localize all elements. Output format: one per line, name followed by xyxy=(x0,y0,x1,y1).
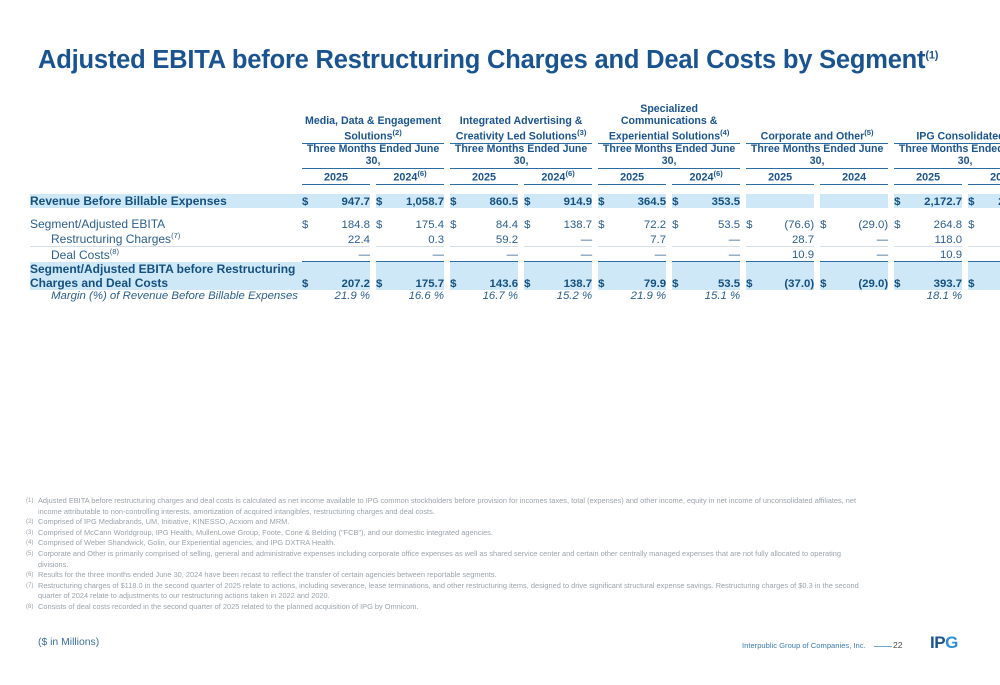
footnote-item: (2) Comprised of IPG Mediabrands, UM, In… xyxy=(26,517,866,528)
currency-symbol xyxy=(524,246,540,262)
currency-symbol: $ xyxy=(894,217,910,231)
table-row-restructuring-charges: Restructuring Charges(7) 22.4 0.3 59.2 —… xyxy=(30,231,1000,247)
cell-value: — xyxy=(836,246,888,262)
table-row-deal-costs: Deal Costs(8) — — — — — — 10.9 — xyxy=(30,246,1000,262)
cell-value: — xyxy=(984,246,1000,262)
currency-symbol xyxy=(968,290,984,302)
segment-name: Media, Data & Engagement Solutions xyxy=(305,115,441,143)
cell-value: 21.9 % xyxy=(318,290,370,302)
footnote-text: Restructuring charges of $118.0 in the s… xyxy=(38,581,866,602)
year-label: 2025 xyxy=(324,172,348,184)
cell-value: 72.2 xyxy=(614,217,666,231)
spacer-cell xyxy=(30,208,1000,217)
cell-value: 364.5 xyxy=(614,194,666,208)
row-label: Segment/Adjusted EBITA before Restructur… xyxy=(30,262,302,290)
currency-symbol xyxy=(450,290,466,302)
cell-value: 53.5 xyxy=(688,262,740,290)
currency-symbol: $ xyxy=(894,262,910,290)
footnote-marker: (4) xyxy=(26,538,38,549)
header-corner-blank xyxy=(30,104,302,144)
currency-symbol: $ xyxy=(524,217,540,231)
cell-value: 79.9 xyxy=(614,262,666,290)
footnote-marker: (8) xyxy=(26,602,38,613)
segment-superscript: (2) xyxy=(393,128,402,137)
segment-header-row: Media, Data & Engagement Solutions(2) In… xyxy=(30,104,1000,144)
year-label: 2025 xyxy=(472,172,496,184)
year-label: 2025 xyxy=(620,172,644,184)
year-label: 2024 xyxy=(393,172,417,184)
period-corner-blank xyxy=(30,144,302,169)
year-header-seg3-2025: 2025 xyxy=(598,168,666,184)
currency-symbol xyxy=(672,246,688,262)
cell-value: 338.9 xyxy=(984,262,1000,290)
footnote-item: (4) Comprised of Weber Shandwick, Golin,… xyxy=(26,538,866,549)
year-corner-blank xyxy=(30,168,302,184)
period-header-segment-2: Three Months Ended June 30, xyxy=(450,144,592,169)
currency-symbol: $ xyxy=(746,262,762,290)
cell-value: — xyxy=(466,246,518,262)
spacer-row-2 xyxy=(30,208,1000,217)
cell-value: 10.9 xyxy=(762,246,814,262)
cell-value: 353.5 xyxy=(688,194,740,208)
period-header-segment-4: Three Months Ended June 30, xyxy=(746,144,888,169)
currency-symbol: $ xyxy=(598,217,614,231)
year-header-seg2-2025: 2025 xyxy=(450,168,518,184)
currency-symbol xyxy=(672,290,688,302)
cell-value: 21.9 % xyxy=(614,290,666,302)
currency-symbol: $ xyxy=(672,262,688,290)
currency-symbol xyxy=(524,231,540,247)
period-header-segment-1: Three Months Ended June 30, xyxy=(302,144,444,169)
year-label: 2024 xyxy=(541,172,565,184)
year-header-seg5-2025: 2025 xyxy=(894,168,962,184)
currency-symbol: $ xyxy=(450,194,466,208)
segment-header-corporate-and-other: Corporate and Other(5) xyxy=(746,104,888,144)
currency-symbol xyxy=(376,231,392,247)
cell-value: (29.0) xyxy=(836,262,888,290)
year-header-row: 2025 2024(6) 2025 2024(6) 2025 2024(6) xyxy=(30,168,1000,184)
year-header-seg1-2024: 2024(6) xyxy=(376,168,444,184)
currency-symbol xyxy=(746,194,762,208)
table-row-segment-adjusted-ebita: Segment/Adjusted EBITA $ 184.8 $ 175.4 $… xyxy=(30,217,1000,231)
year-header-seg3-2024: 2024(6) xyxy=(672,168,740,184)
year-label: 2024 xyxy=(842,172,866,184)
table-row-margin-percent-of-revenue-before-billable-expenses: Margin (%) of Revenue Before Billable Ex… xyxy=(30,290,1000,302)
footnote-marker: (3) xyxy=(26,528,38,539)
year-label: 2025 xyxy=(916,172,940,184)
cell-value: 175.4 xyxy=(392,217,444,231)
year-label: 2024 xyxy=(990,172,1000,184)
currency-symbol xyxy=(598,231,614,247)
cell-value xyxy=(836,290,888,302)
segment-superscript: (5) xyxy=(864,128,873,137)
currency-symbol: $ xyxy=(746,217,762,231)
currency-symbol xyxy=(376,246,392,262)
currency-symbol xyxy=(302,290,318,302)
page-number: 22 xyxy=(893,640,903,650)
segment-name: Specialized Communications & Experientia… xyxy=(609,103,720,143)
currency-symbol xyxy=(894,231,910,247)
year-header-seg2-2024: 2024(6) xyxy=(524,168,592,184)
currency-symbol xyxy=(820,246,836,262)
footnote-marker: (6) xyxy=(26,570,38,581)
cell-value: 947.7 xyxy=(318,194,370,208)
cell-value: 2,172.7 xyxy=(910,194,962,208)
currency-symbol: $ xyxy=(376,194,392,208)
year-header-seg4-2025: 2025 xyxy=(746,168,814,184)
footnote-marker: (1) xyxy=(26,496,38,517)
footnote-marker: (5) xyxy=(26,549,38,570)
year-header-seg1-2025: 2025 xyxy=(302,168,370,184)
footnote-marker: (2) xyxy=(26,517,38,528)
cell-value: 59.2 xyxy=(466,231,518,247)
currency-symbol: $ xyxy=(450,262,466,290)
segment-header-integrated-advertising-creativity-led-solutions: Integrated Advertising & Creativity Led … xyxy=(450,104,592,144)
currency-symbol: $ xyxy=(524,194,540,208)
footer-company-name: Interpublic Group of Companies, Inc. xyxy=(742,641,900,650)
currency-symbol: $ xyxy=(598,262,614,290)
footnote-marker: (7) xyxy=(26,581,38,602)
currency-symbol: $ xyxy=(302,194,318,208)
financial-table-container: Media, Data & Engagement Solutions(2) In… xyxy=(30,104,990,302)
cell-value: — xyxy=(688,246,740,262)
cell-value: 118.0 xyxy=(910,231,962,247)
currency-symbol xyxy=(820,231,836,247)
cell-value xyxy=(836,194,888,208)
currency-symbol: $ xyxy=(302,217,318,231)
page-title: Adjusted EBITA before Restructuring Char… xyxy=(38,46,938,75)
segment-name: Corporate and Other xyxy=(761,131,865,143)
cell-value: 14.6 % xyxy=(984,290,1000,302)
footnote-item: (6) Results for the three months ended J… xyxy=(26,570,866,581)
cell-value: 338.6 xyxy=(984,217,1000,231)
currency-symbol xyxy=(302,231,318,247)
row-label-text: Deal Costs xyxy=(51,248,110,262)
currency-symbol xyxy=(746,246,762,262)
currency-symbol xyxy=(820,194,836,208)
currency-symbol: $ xyxy=(524,262,540,290)
currency-symbol: $ xyxy=(672,194,688,208)
footnote-item: (5) Corporate and Other is primarily com… xyxy=(26,549,866,570)
ipg-logo: IPG xyxy=(930,633,958,653)
cell-value: 10.9 xyxy=(910,246,962,262)
cell-value: 22.4 xyxy=(318,231,370,247)
currency-symbol: $ xyxy=(598,194,614,208)
currency-symbol: $ xyxy=(672,217,688,231)
cell-value: 0.3 xyxy=(984,231,1000,247)
cell-value: 138.7 xyxy=(540,217,592,231)
logo-g-text: G xyxy=(945,633,958,652)
cell-value xyxy=(762,194,814,208)
cell-value: 143.6 xyxy=(466,262,518,290)
cell-value: 15.1 % xyxy=(688,290,740,302)
footer-company-text: Interpublic Group of Companies, Inc. xyxy=(742,641,866,650)
row-label: Revenue Before Billable Expenses xyxy=(30,194,302,208)
currency-symbol xyxy=(894,290,910,302)
segment-superscript: (3) xyxy=(577,128,586,137)
currency-symbol: $ xyxy=(968,217,984,231)
cell-value: — xyxy=(392,246,444,262)
cell-value: (37.0) xyxy=(762,262,814,290)
logo-ip-text: IP xyxy=(930,633,945,652)
cell-value: (76.6) xyxy=(762,217,814,231)
spacer-row-1 xyxy=(30,184,1000,194)
cell-value: — xyxy=(540,231,592,247)
footnote-item: (1) Adjusted EBITA before restructuring … xyxy=(26,496,866,517)
currency-symbol: $ xyxy=(894,194,910,208)
cell-value: — xyxy=(540,246,592,262)
cell-value: 393.7 xyxy=(910,262,962,290)
footnote-item: (8) Consists of deal costs recorded in t… xyxy=(26,602,866,613)
currency-symbol xyxy=(598,246,614,262)
footnote-item: (3) Comprised of McCann Worldgroup, IPG … xyxy=(26,528,866,539)
period-header-segment-5: Three Months Ended June 30, xyxy=(894,144,1000,169)
currency-symbol: $ xyxy=(376,217,392,231)
segment-header-specialized-communications-experiential-solutions: Specialized Communications & Experientia… xyxy=(598,104,740,144)
cell-value: 16.6 % xyxy=(392,290,444,302)
financial-table: Media, Data & Engagement Solutions(2) In… xyxy=(30,104,1000,302)
cell-value: 138.7 xyxy=(540,262,592,290)
segment-name: Integrated Advertising & Creativity Led … xyxy=(456,115,583,143)
currency-symbol: $ xyxy=(820,262,836,290)
cell-value: 0.3 xyxy=(392,231,444,247)
footnote-text: Comprised of McCann Worldgroup, IPG Heal… xyxy=(38,528,866,539)
footnote-item: (7) Restructuring charges of $118.0 in t… xyxy=(26,581,866,602)
segment-header-media-data-engagement-solutions: Media, Data & Engagement Solutions(2) xyxy=(302,104,444,144)
table-row-segment-adjusted-ebita-before-restructuring-charges-and-deal-costs: Segment/Adjusted EBITA before Restructur… xyxy=(30,262,1000,290)
currency-symbol: $ xyxy=(968,194,984,208)
year-header-seg4-2024: 2024 xyxy=(820,168,888,184)
cell-value: 175.7 xyxy=(392,262,444,290)
year-label: 2025 xyxy=(768,172,792,184)
year-label: 2024 xyxy=(689,172,713,184)
cell-value: 84.4 xyxy=(466,217,518,231)
currency-symbol xyxy=(672,231,688,247)
cell-value: 264.8 xyxy=(910,217,962,231)
footnote-text: Comprised of IPG Mediabrands, UM, Initia… xyxy=(38,517,866,528)
row-label: Restructuring Charges(7) xyxy=(30,231,302,247)
currency-symbol xyxy=(894,246,910,262)
currency-symbol xyxy=(746,290,762,302)
year-superscript: (6) xyxy=(713,169,722,178)
cell-value: 207.2 xyxy=(318,262,370,290)
period-header-row: Three Months Ended June 30, Three Months… xyxy=(30,144,1000,169)
footnote-text: Adjusted EBITA before restructuring char… xyxy=(38,496,866,517)
currency-symbol: $ xyxy=(820,217,836,231)
footnote-text: Results for the three months ended June … xyxy=(38,570,866,581)
cell-value: — xyxy=(318,246,370,262)
currency-symbol: $ xyxy=(968,262,984,290)
units-label: ($ in Millions) xyxy=(38,637,99,648)
row-label-superscript: (8) xyxy=(110,247,119,256)
currency-symbol xyxy=(302,246,318,262)
currency-symbol xyxy=(746,231,762,247)
cell-value: 914.9 xyxy=(540,194,592,208)
cell-value: 16.7 % xyxy=(466,290,518,302)
currency-symbol xyxy=(968,231,984,247)
segment-header-ipg-consolidated: IPG Consolidated(1) xyxy=(894,104,1000,144)
row-label: Deal Costs(8) xyxy=(30,246,302,262)
cell-value: — xyxy=(688,231,740,247)
segment-superscript: (4) xyxy=(720,128,729,137)
row-label-superscript: (7) xyxy=(171,231,180,240)
cell-value: 1,058.7 xyxy=(392,194,444,208)
currency-symbol: $ xyxy=(376,262,392,290)
footnote-text: Comprised of Weber Shandwick, Golin, our… xyxy=(38,538,866,549)
year-header-seg5-2024: 2024 xyxy=(968,168,1000,184)
currency-symbol xyxy=(598,290,614,302)
cell-value: 184.8 xyxy=(318,217,370,231)
currency-symbol: $ xyxy=(450,217,466,231)
spacer-cell xyxy=(30,184,1000,194)
footnote-text: Consists of deal costs recorded in the s… xyxy=(38,602,866,613)
currency-symbol xyxy=(450,246,466,262)
cell-value: 15.2 % xyxy=(540,290,592,302)
table-row-revenue-before-billable-expenses: Revenue Before Billable Expenses $ 947.7… xyxy=(30,194,1000,208)
cell-value xyxy=(762,290,814,302)
cell-value: 28.7 xyxy=(762,231,814,247)
row-label-text: Restructuring Charges xyxy=(51,232,171,246)
footnotes-list: (1) Adjusted EBITA before restructuring … xyxy=(26,496,866,613)
currency-symbol xyxy=(820,290,836,302)
currency-symbol xyxy=(524,290,540,302)
period-header-segment-3: Three Months Ended June 30, xyxy=(598,144,740,169)
year-superscript: (6) xyxy=(417,169,426,178)
cell-value: — xyxy=(836,231,888,247)
row-label: Margin (%) of Revenue Before Billable Ex… xyxy=(30,290,302,302)
cell-value: 2,327.1 xyxy=(984,194,1000,208)
page-title-text: Adjusted EBITA before Restructuring Char… xyxy=(38,46,925,74)
cell-value: — xyxy=(614,246,666,262)
cell-value: 53.5 xyxy=(688,217,740,231)
cell-value: 18.1 % xyxy=(910,290,962,302)
cell-value: 860.5 xyxy=(466,194,518,208)
cell-value: (29.0) xyxy=(836,217,888,231)
cell-value: 7.7 xyxy=(614,231,666,247)
currency-symbol: $ xyxy=(302,262,318,290)
year-superscript: (6) xyxy=(565,169,574,178)
currency-symbol xyxy=(968,246,984,262)
footnote-text: Corporate and Other is primarily compris… xyxy=(38,549,866,570)
currency-symbol xyxy=(376,290,392,302)
currency-symbol xyxy=(450,231,466,247)
row-label: Segment/Adjusted EBITA xyxy=(30,217,302,231)
segment-name: IPG Consolidated xyxy=(916,131,1000,143)
footer-divider xyxy=(874,646,892,647)
page-title-superscript: (1) xyxy=(925,50,938,62)
